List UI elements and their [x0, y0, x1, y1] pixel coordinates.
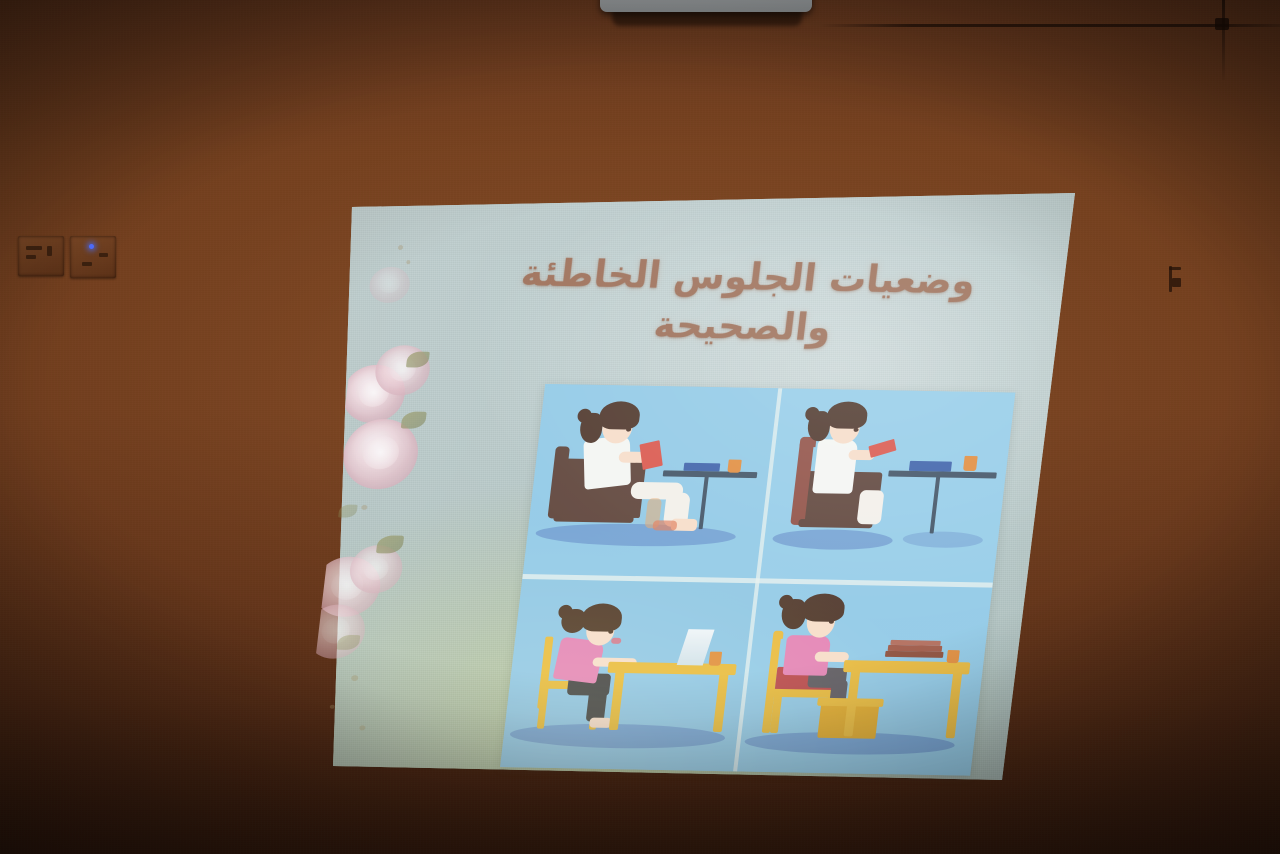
wall-background [0, 0, 1280, 854]
wall-switch-left[interactable] [18, 236, 64, 276]
wall-bracket-right [1166, 266, 1183, 292]
wall-corner-line [1222, 0, 1225, 80]
wall-corner-bracket [1215, 18, 1229, 30]
led-indicator-icon [89, 244, 94, 249]
wall-switch-right[interactable] [70, 236, 116, 278]
projector-shadow [612, 10, 802, 26]
ceiling-projector [600, 0, 812, 12]
ceiling-seam-line [820, 24, 1280, 27]
classroom-photo-scene: وضعيات الجلوس الخاطئة والصحيحة [0, 0, 1280, 854]
